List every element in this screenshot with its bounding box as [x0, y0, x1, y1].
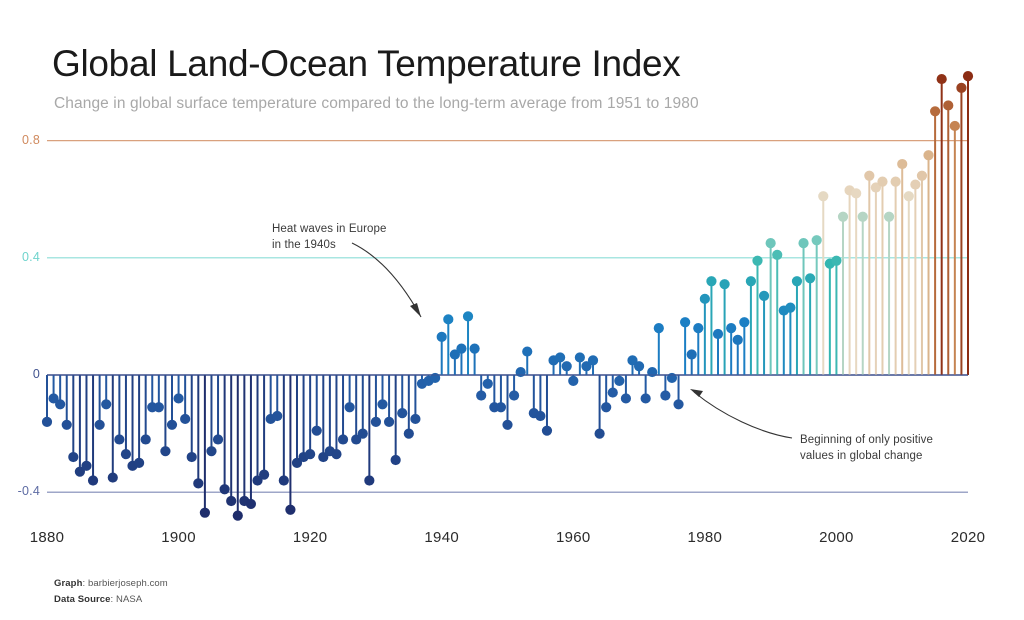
data-point: [766, 238, 776, 248]
x-tick-label-1880: 1880: [12, 529, 82, 546]
x-tick-label-1940: 1940: [407, 529, 477, 546]
data-point: [108, 472, 118, 482]
data-point: [923, 150, 933, 160]
data-point: [272, 411, 282, 421]
annotation-heat-waves: Heat waves in Europein the 1940s: [272, 221, 387, 253]
data-point: [226, 496, 236, 506]
data-point: [391, 455, 401, 465]
data-point: [687, 349, 697, 359]
annotation-positive-values-line2: values in global change: [800, 448, 933, 464]
data-point: [279, 475, 289, 485]
footer-source-value: NASA: [116, 594, 142, 605]
data-point: [785, 303, 795, 313]
data-point: [101, 399, 111, 409]
data-point: [160, 446, 170, 456]
data-point: [95, 420, 105, 430]
data-point: [220, 484, 230, 494]
data-point: [660, 390, 670, 400]
annotation-positive-values-arrowhead: [690, 389, 703, 397]
x-tick-label-1900: 1900: [144, 529, 214, 546]
data-point: [621, 393, 631, 403]
annotation-heat-waves-line1: Heat waves in Europe: [272, 221, 387, 237]
data-point: [792, 276, 802, 286]
data-point: [114, 434, 124, 444]
data-point: [200, 508, 210, 518]
data-point: [568, 376, 578, 386]
data-point: [509, 390, 519, 400]
data-point: [759, 291, 769, 301]
data-point: [601, 402, 611, 412]
data-point: [673, 399, 683, 409]
data-point: [739, 317, 749, 327]
data-point: [772, 250, 782, 260]
data-point: [496, 402, 506, 412]
stem-plot: [0, 0, 1024, 620]
data-point: [956, 83, 966, 93]
data-point: [167, 420, 177, 430]
data-point: [805, 273, 815, 283]
data-point: [443, 314, 453, 324]
y-tick-label-0p4: 0.4: [0, 250, 40, 264]
data-point: [930, 106, 940, 116]
data-point: [463, 311, 473, 321]
data-point: [884, 212, 894, 222]
x-tick-label-2020: 2020: [933, 529, 1003, 546]
data-point: [726, 323, 736, 333]
y-tick-label-neg0p4: -0.4: [0, 484, 40, 498]
data-point: [838, 212, 848, 222]
data-point: [456, 344, 466, 354]
data-point: [259, 470, 269, 480]
data-point: [246, 499, 256, 509]
data-point: [680, 317, 690, 327]
data-point: [904, 191, 914, 201]
data-point: [877, 177, 887, 187]
y-tick-label-0p8: 0.8: [0, 133, 40, 147]
data-point: [121, 449, 131, 459]
data-point: [384, 417, 394, 427]
data-point: [641, 393, 651, 403]
data-point: [410, 414, 420, 424]
annotation-positive-values: Beginning of only positivevalues in glob…: [800, 432, 933, 464]
data-point: [154, 402, 164, 412]
y-tick-label-0: 0: [0, 367, 40, 381]
data-point: [654, 323, 664, 333]
data-point: [910, 179, 920, 189]
data-point: [522, 346, 532, 356]
data-point: [312, 426, 322, 436]
data-point: [371, 417, 381, 427]
x-tick-label-1980: 1980: [670, 529, 740, 546]
data-point: [943, 100, 953, 110]
footer-graph-value: barbierjoseph.com: [88, 578, 168, 589]
data-point: [68, 452, 78, 462]
data-point: [634, 361, 644, 371]
data-point: [542, 426, 552, 436]
data-point: [917, 171, 927, 181]
data-point: [193, 478, 203, 488]
data-point: [206, 446, 216, 456]
data-point: [502, 420, 512, 430]
footer-source-label: Data Source: [54, 594, 111, 605]
data-point: [706, 276, 716, 286]
data-point: [358, 429, 368, 439]
data-point: [713, 329, 723, 339]
data-point: [595, 429, 605, 439]
data-point: [746, 276, 756, 286]
data-point: [851, 188, 861, 198]
data-point: [88, 475, 98, 485]
data-point: [937, 74, 947, 84]
data-point: [404, 429, 414, 439]
data-point: [180, 414, 190, 424]
x-tick-label-1920: 1920: [275, 529, 345, 546]
data-point: [285, 505, 295, 515]
annotation-positive-values-line1: Beginning of only positive: [800, 432, 933, 448]
data-point: [719, 279, 729, 289]
data-point: [397, 408, 407, 418]
data-point: [187, 452, 197, 462]
data-point: [588, 355, 598, 365]
footer-graph-label: Graph: [54, 578, 82, 589]
data-point: [81, 461, 91, 471]
data-point: [437, 332, 447, 342]
data-point: [864, 171, 874, 181]
data-point: [608, 387, 618, 397]
data-point: [476, 390, 486, 400]
data-point: [470, 344, 480, 354]
data-point: [555, 352, 565, 362]
data-point: [213, 434, 223, 444]
data-point: [55, 399, 65, 409]
data-point: [173, 393, 183, 403]
data-point: [614, 376, 624, 386]
data-point: [700, 294, 710, 304]
annotation-positive-values-arrow: [694, 392, 792, 438]
data-point: [233, 511, 243, 521]
annotation-heat-waves-arrowhead: [410, 303, 421, 317]
data-point: [562, 361, 572, 371]
data-point: [733, 335, 743, 345]
data-point: [338, 434, 348, 444]
data-point: [812, 235, 822, 245]
data-point: [345, 402, 355, 412]
data-point: [818, 191, 828, 201]
data-point: [897, 159, 907, 169]
data-point: [62, 420, 72, 430]
data-point: [891, 177, 901, 187]
x-tick-label-2000: 2000: [801, 529, 871, 546]
data-point: [575, 352, 585, 362]
data-point: [693, 323, 703, 333]
footer-source: Data Source: NASA: [54, 594, 142, 605]
data-point: [752, 256, 762, 266]
data-point: [483, 379, 493, 389]
data-point: [331, 449, 341, 459]
data-point: [141, 434, 151, 444]
data-point: [305, 449, 315, 459]
data-point: [963, 71, 973, 81]
data-point: [858, 212, 868, 222]
data-point: [364, 475, 374, 485]
data-point: [798, 238, 808, 248]
annotation-heat-waves-line2: in the 1940s: [272, 237, 387, 253]
x-tick-label-1960: 1960: [538, 529, 608, 546]
footer-graph: Graph: barbierjoseph.com: [54, 578, 168, 589]
data-point: [831, 256, 841, 266]
chart-canvas: Global Land-Ocean Temperature Index Chan…: [0, 0, 1024, 620]
data-point: [950, 121, 960, 131]
data-point: [377, 399, 387, 409]
data-point: [134, 458, 144, 468]
data-point: [42, 417, 52, 427]
data-point: [535, 411, 545, 421]
